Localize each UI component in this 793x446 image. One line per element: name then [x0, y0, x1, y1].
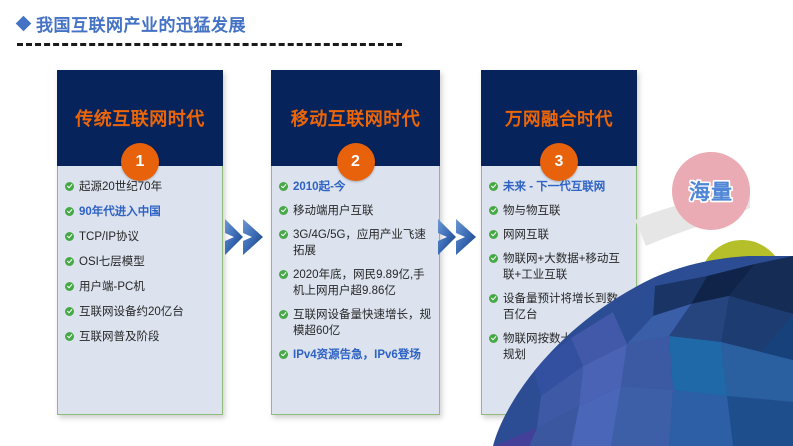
card-1-step-badge: 1	[121, 143, 159, 181]
circle-label-zhineng-text: 智能	[720, 267, 764, 297]
check-circle-icon	[279, 182, 288, 191]
arrow-card1-to-card2-icon	[224, 214, 266, 260]
list-item: 90年代进入中国	[65, 204, 214, 220]
check-circle-icon	[279, 350, 288, 359]
circle-label-hailiang-text: 海量	[689, 176, 733, 206]
check-circle-icon	[65, 182, 74, 191]
card-1-body: 起源20世纪70年 90年代进入中国 TCP/IP协议 OSI七层模型 用户端-…	[58, 179, 222, 410]
check-circle-icon	[65, 332, 74, 341]
list-item: 2020年底，网民9.89亿,手机上网用户超9.86亿	[279, 267, 431, 299]
list-item: 未来 - 下一代互联网	[489, 179, 628, 195]
check-circle-icon	[489, 182, 498, 191]
stage-card-3[interactable]: 万网融合时代 3 未来 - 下一代互联网 物与物互联 网网互联 物联网+大数据+…	[481, 70, 637, 415]
list-item-label: 设备量预计将增长到数百亿台	[503, 291, 628, 323]
check-circle-icon	[279, 270, 288, 279]
card-2-body: 2010起-今 移动端用户互联 3G/4G/5G，应用产业飞速拓展 2020年底…	[272, 179, 439, 410]
card-1-heading: 传统互联网时代	[75, 105, 205, 131]
list-item-label: 物联网按数十万亿终端规划	[503, 331, 628, 363]
list-item: 起源20世纪70年	[65, 179, 214, 195]
check-circle-icon	[489, 254, 498, 263]
list-item-label: 2010起-今	[293, 179, 431, 195]
list-item: 互联网设备约20亿台	[65, 304, 214, 320]
check-circle-icon	[489, 230, 498, 239]
list-item: 设备量预计将增长到数百亿台	[489, 291, 628, 323]
card-3-step-badge: 3	[540, 143, 578, 181]
list-item: 2010起-今	[279, 179, 431, 195]
list-item-label: 90年代进入中国	[79, 204, 214, 220]
stage-card-2[interactable]: 移动互联网时代 2 2010起-今 移动端用户互联 3G/4G/5G，应用产业飞…	[271, 70, 440, 415]
stage-card-1[interactable]: 传统互联网时代 1 起源20世纪70年 90年代进入中国 TCP/IP协议 OS…	[57, 70, 223, 415]
list-item-label: OSI七层模型	[79, 254, 214, 270]
list-item-label: 移动端用户互联	[293, 203, 431, 219]
list-item: 网网互联	[489, 227, 628, 243]
list-item-label: 用户端-PC机	[79, 279, 214, 295]
diamond-bullet-icon	[16, 16, 32, 32]
list-item: 物联网+大数据+移动互联+工业互联	[489, 251, 628, 283]
check-circle-icon	[489, 294, 498, 303]
list-item: 物联网按数十万亿终端规划	[489, 331, 628, 363]
list-item: 用户端-PC机	[65, 279, 214, 295]
list-item-label: 物联网+大数据+移动互联+工业互联	[503, 251, 628, 283]
card-2-step-badge: 2	[337, 143, 375, 181]
card-3-heading: 万网融合时代	[505, 106, 613, 131]
list-item: 互联网普及阶段	[65, 329, 214, 345]
list-item-label: 互联网普及阶段	[79, 329, 214, 345]
list-item: 互联网设备量快速增长，规模超60亿	[279, 307, 431, 339]
list-item: IPv4资源告急，IPv6登场	[279, 347, 431, 363]
page-title-text: 我国互联网产业的迅猛发展	[36, 11, 246, 36]
arrow-card2-to-card3-icon	[437, 214, 479, 260]
check-circle-icon	[65, 232, 74, 241]
list-item-label: 2020年底，网民9.89亿,手机上网用户超9.86亿	[293, 267, 431, 299]
check-circle-icon	[65, 257, 74, 266]
slide-canvas: 我国互联网产业的迅猛发展 传统互联网时代 1 起源20世纪70年 90年代进入中…	[0, 0, 793, 446]
check-circle-icon	[279, 310, 288, 319]
check-circle-icon	[279, 206, 288, 215]
list-item-label: 起源20世纪70年	[79, 179, 214, 195]
list-item-label: TCP/IP协议	[79, 229, 214, 245]
check-circle-icon	[65, 207, 74, 216]
title-divider	[17, 43, 402, 46]
list-item-label: 互联网设备约20亿台	[79, 304, 214, 320]
list-item: 物与物互联	[489, 203, 628, 219]
check-circle-icon	[489, 206, 498, 215]
check-circle-icon	[279, 230, 288, 239]
list-item-label: 网网互联	[503, 227, 628, 243]
circle-label-zhineng: 智能	[700, 240, 784, 324]
check-circle-icon	[489, 334, 498, 343]
list-item-label: 未来 - 下一代互联网	[503, 179, 628, 195]
list-item-label: 互联网设备量快速增长，规模超60亿	[293, 307, 431, 339]
page-title: 我国互联网产业的迅猛发展	[18, 11, 246, 36]
card-2-heading: 移动互联网时代	[291, 105, 421, 131]
list-item-label: IPv4资源告急，IPv6登场	[293, 347, 431, 363]
card-3-body: 未来 - 下一代互联网 物与物互联 网网互联 物联网+大数据+移动互联+工业互联…	[482, 179, 636, 410]
list-item: 移动端用户互联	[279, 203, 431, 219]
list-item: OSI七层模型	[65, 254, 214, 270]
check-circle-icon	[65, 307, 74, 316]
list-item: TCP/IP协议	[65, 229, 214, 245]
list-item: 3G/4G/5G，应用产业飞速拓展	[279, 227, 431, 259]
check-circle-icon	[65, 282, 74, 291]
list-item-label: 3G/4G/5G，应用产业飞速拓展	[293, 227, 431, 259]
list-item-label: 物与物互联	[503, 203, 628, 219]
circle-label-hailiang: 海量	[672, 152, 750, 230]
